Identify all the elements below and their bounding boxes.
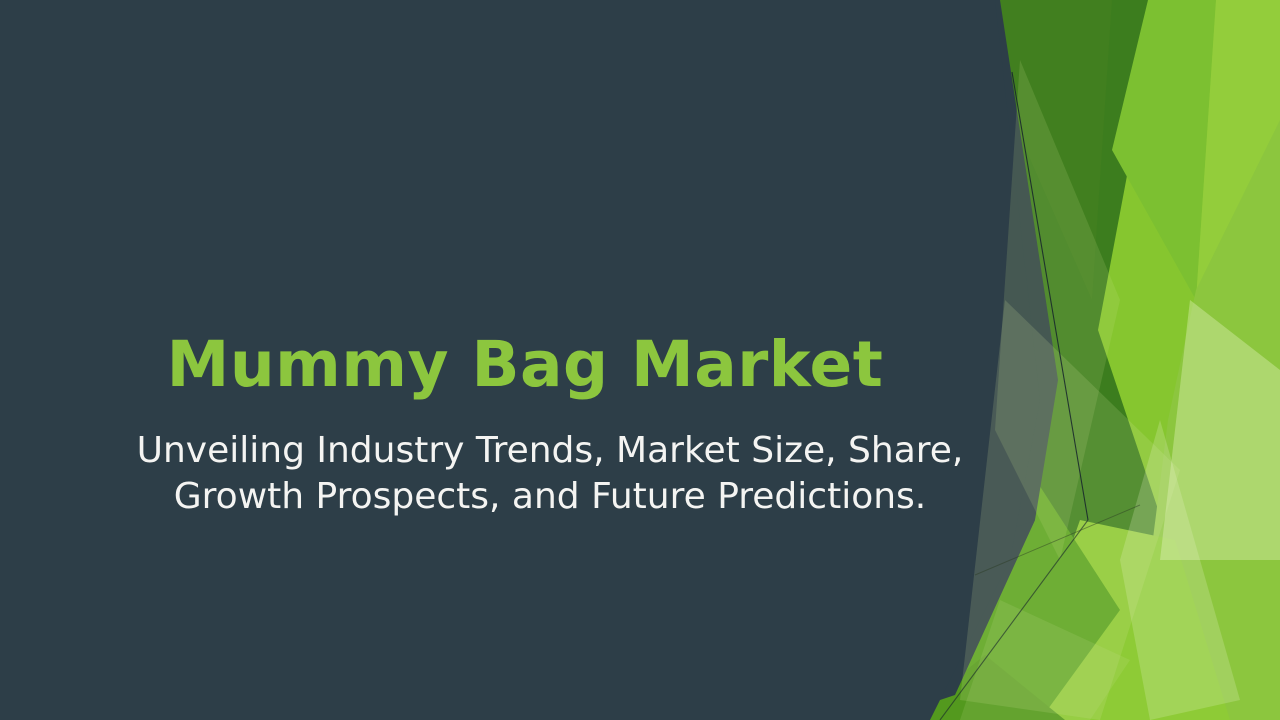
presentation-slide: Mummy Bag Market Unveiling Industry Tren… [0,0,1280,720]
subtitle-block: Unveiling Industry Trends, Market Size, … [120,428,980,520]
page-title: Mummy Bag Market [80,332,970,399]
slide-text-layer: Mummy Bag Market Unveiling Industry Tren… [0,0,1280,720]
title-block: Mummy Bag Market [80,332,970,399]
subtitle-line-1: Unveiling Industry Trends, Market Size, … [137,430,964,471]
slide-subtitle: Unveiling Industry Trends, Market Size, … [120,428,980,520]
subtitle-line-2: Growth Prospects, and Future Predictions… [120,474,980,520]
